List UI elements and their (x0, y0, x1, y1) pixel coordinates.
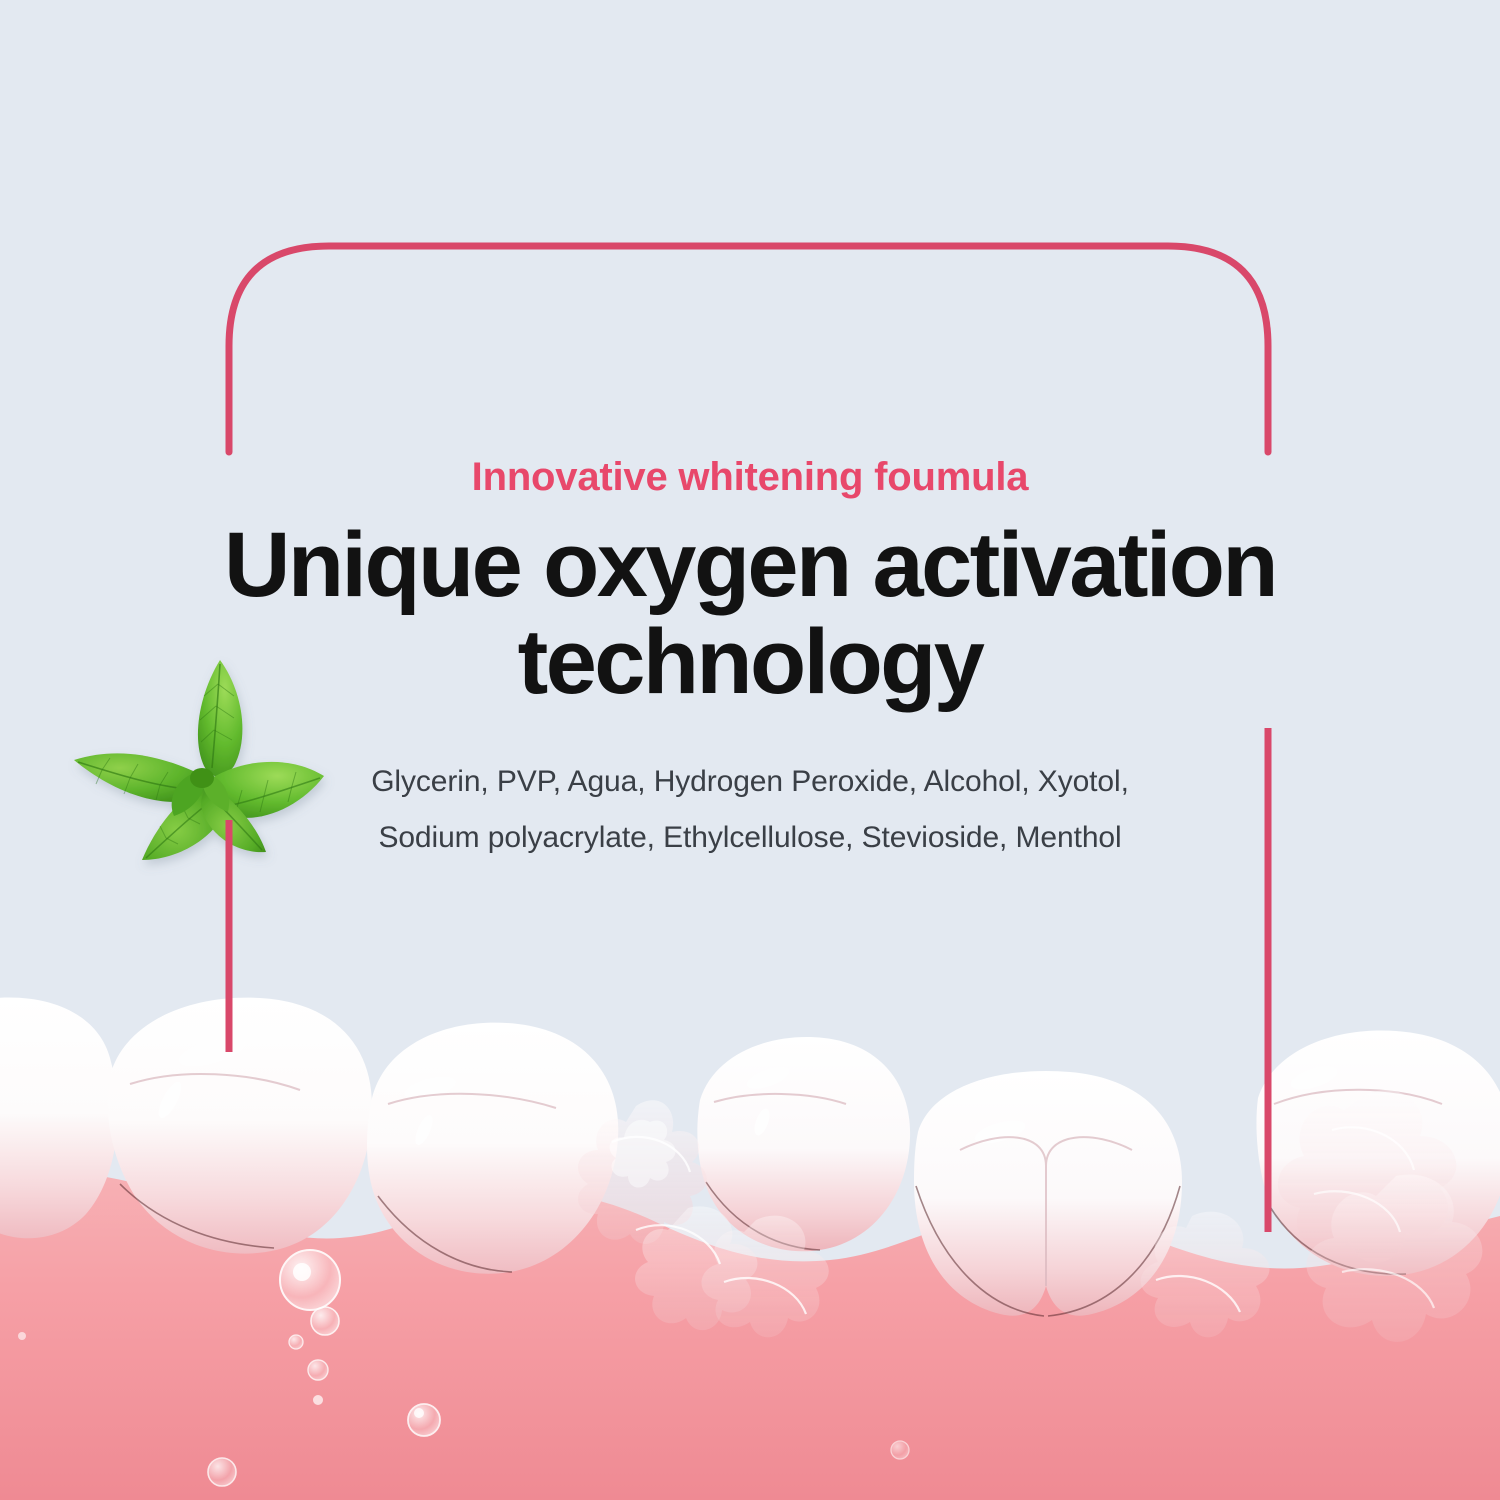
frame-top-bracket (229, 246, 1268, 452)
teeth-and-gums-illustration (0, 980, 1500, 1500)
ingredients-list: Glycerin, PVP, Agua, Hydrogen Peroxide, … (0, 754, 1500, 865)
eyebrow-label: Innovative whitening foumula (0, 455, 1500, 499)
ingredients-line-2: Sodium polyacrylate, Ethylcellulose, Ste… (330, 810, 1170, 866)
headline-line-2: technology (518, 611, 983, 713)
page-title: Unique oxygen activation technology (0, 517, 1500, 710)
headline-line-1: Unique oxygen activation (224, 514, 1276, 616)
poster-canvas: Innovative whitening foumula Unique oxyg… (0, 0, 1500, 1500)
text-block: Innovative whitening foumula Unique oxyg… (0, 455, 1500, 865)
tooth-3 (697, 1037, 910, 1251)
ingredients-line-1: Glycerin, PVP, Agua, Hydrogen Peroxide, … (330, 754, 1170, 810)
